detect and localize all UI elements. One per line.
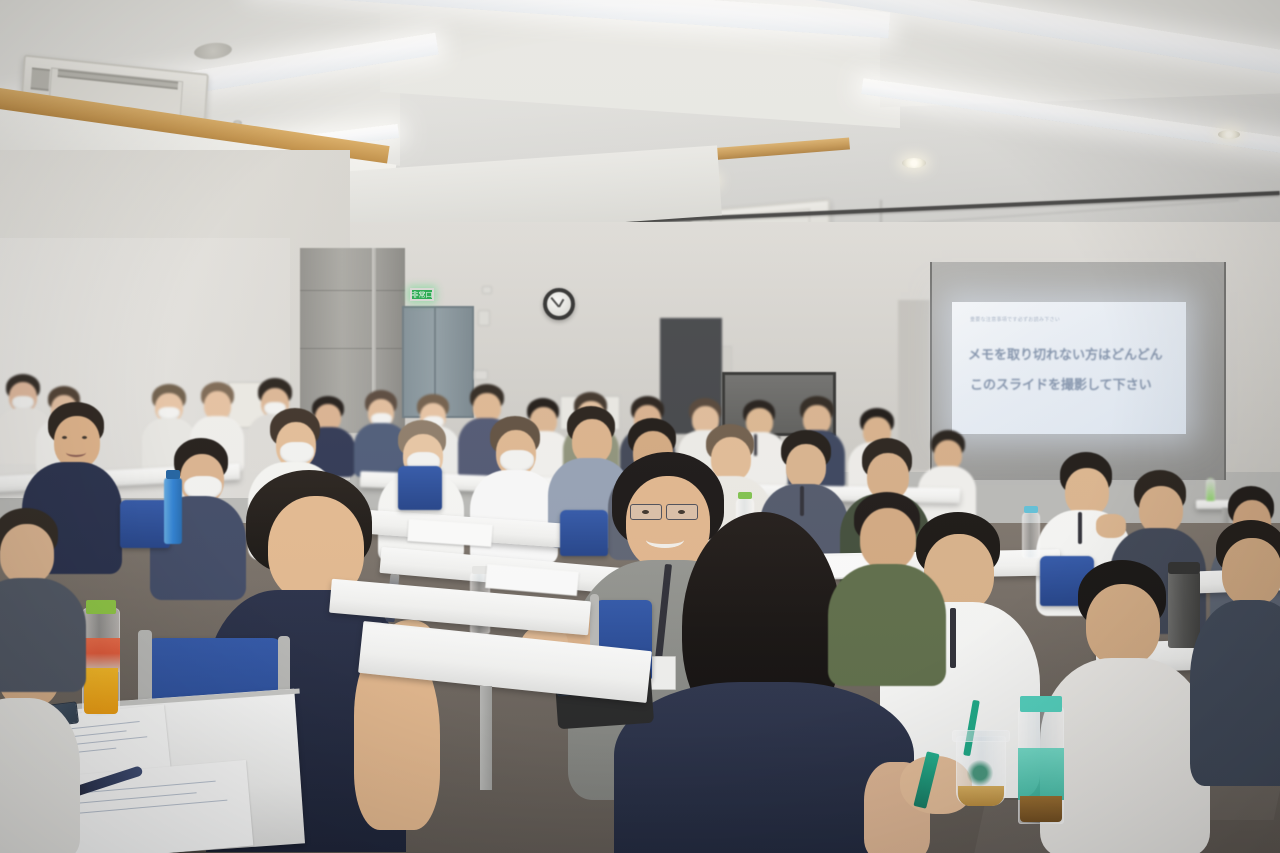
face-mask [280,442,314,464]
paper-line [78,800,228,814]
attendee-head [1139,486,1183,534]
wall-outlet[interactable] [482,286,492,294]
attendee-head [1065,468,1109,516]
paper-line [77,792,197,803]
attendee-eye-left [62,436,67,439]
face-mask [500,450,534,472]
green-tea-label [1018,748,1064,800]
attendee-right-edge [1190,520,1280,780]
green-tea-liquid [1020,796,1062,822]
attendee-head [1086,584,1160,666]
slide-headline: 重要な注意事項です必ずお読み下さい [970,316,1060,323]
attendee-body [1040,658,1210,853]
attendee-smile [66,448,86,457]
attendee-body [1190,600,1280,786]
attendee-head [54,416,100,468]
downlight-5 [1218,130,1240,139]
bottle-cap-blue [166,470,180,479]
wall-clock [543,288,575,320]
attendee-body [0,698,80,853]
lanyard [950,608,956,668]
wall-intercom[interactable] [478,310,490,326]
ac-vent-left [31,67,51,91]
attendee-body [828,564,946,686]
cup-lid [952,730,1010,742]
attendee-head [786,444,826,489]
orange-juice-cap [86,600,116,614]
attendee-olive-shirt [828,492,948,682]
attendee-left-grey-tee [0,508,90,688]
lanyard [1078,512,1082,544]
cup-liquid [958,786,1004,806]
attendee-head [1222,538,1280,606]
clock-hand-minute [550,297,559,307]
chair-mid-3[interactable] [120,500,170,548]
pillar-seam-1 [300,290,405,291]
attendee-head [0,524,54,584]
attendee-eye-right [82,436,87,439]
exit-sign-label: 非常口 [412,290,433,300]
slide-line-2: このスライドを撮影して下さい [970,374,1152,393]
projected-slide: 重要な注意事項です必ずお読み下さい メモを取り切れない方はどんどん このスライド… [952,302,1186,434]
attendee-body [0,578,86,692]
water-bottle-blue [164,478,182,544]
pillar-seam-2 [300,348,405,349]
table-center-leg [480,686,492,790]
wall-switch-panel[interactable] [474,370,488,380]
seminar-room-photo: 非常口 重要な注意事項です必ずお読み下さい メモを取り切れない方はどんどん この… [0,0,1280,853]
attendee-head [860,508,916,570]
slide-line-1: メモを取り切れない方はどんどん [968,344,1163,363]
emergency-exit-sign: 非常口 [410,288,434,301]
green-tea-cap [1020,696,1062,712]
cup-logo [966,760,994,786]
downlight-2 [902,158,926,168]
attendee-right-dark-polo [1040,560,1210,850]
